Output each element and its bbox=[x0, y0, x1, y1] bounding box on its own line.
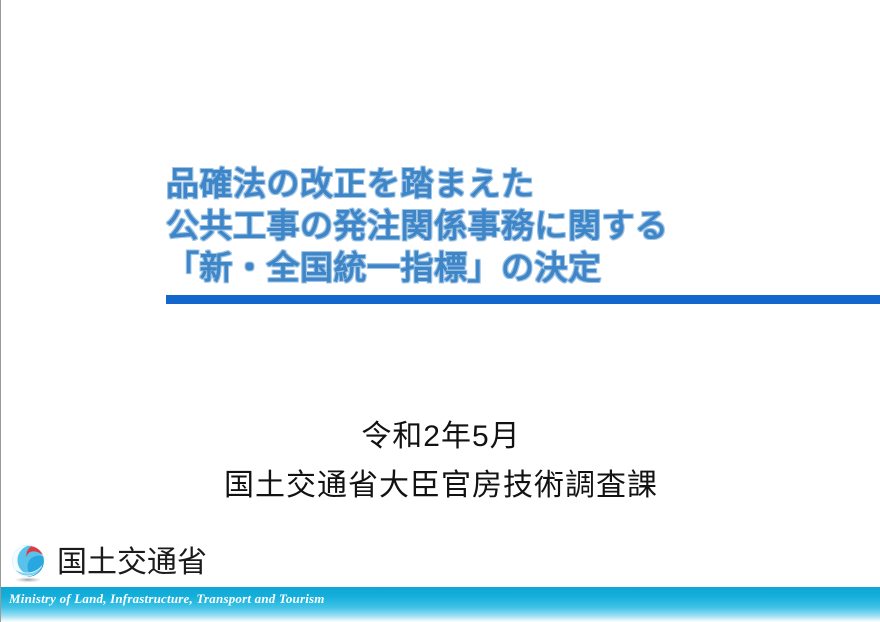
slide-footer: 国土交通省 Ministry of Land, Infrastructure, … bbox=[1, 540, 880, 622]
title-line-2: 公共工事の発注関係事務に関する bbox=[166, 205, 880, 247]
ministry-name-jp: 国土交通省 bbox=[57, 548, 207, 578]
publication-date: 令和2年5月 bbox=[1, 415, 880, 459]
title-line-3: 「新・全国統一指標」の決定 bbox=[166, 247, 880, 289]
presentation-slide: 品確法の改正を踏まえた 公共工事の発注関係事務に関する 「新・全国統一指標」の決… bbox=[0, 0, 880, 622]
ministry-name-en: Ministry of Land, Infrastructure, Transp… bbox=[9, 591, 325, 607]
slide-subtitle-block: 令和2年5月 国土交通省大臣官房技術調査課 bbox=[1, 415, 880, 509]
title-line-1: 品確法の改正を踏まえた bbox=[166, 163, 880, 205]
slide-title: 品確法の改正を踏まえた 公共工事の発注関係事務に関する 「新・全国統一指標」の決… bbox=[166, 163, 880, 289]
mlit-logo-icon bbox=[7, 542, 49, 584]
title-underline-rule bbox=[166, 295, 880, 304]
footer-gradient-bar: Ministry of Land, Infrastructure, Transp… bbox=[1, 587, 880, 622]
issuing-organization: 国土交通省大臣官房技術調査課 bbox=[1, 463, 880, 509]
footer-branding: 国土交通省 bbox=[7, 540, 207, 586]
